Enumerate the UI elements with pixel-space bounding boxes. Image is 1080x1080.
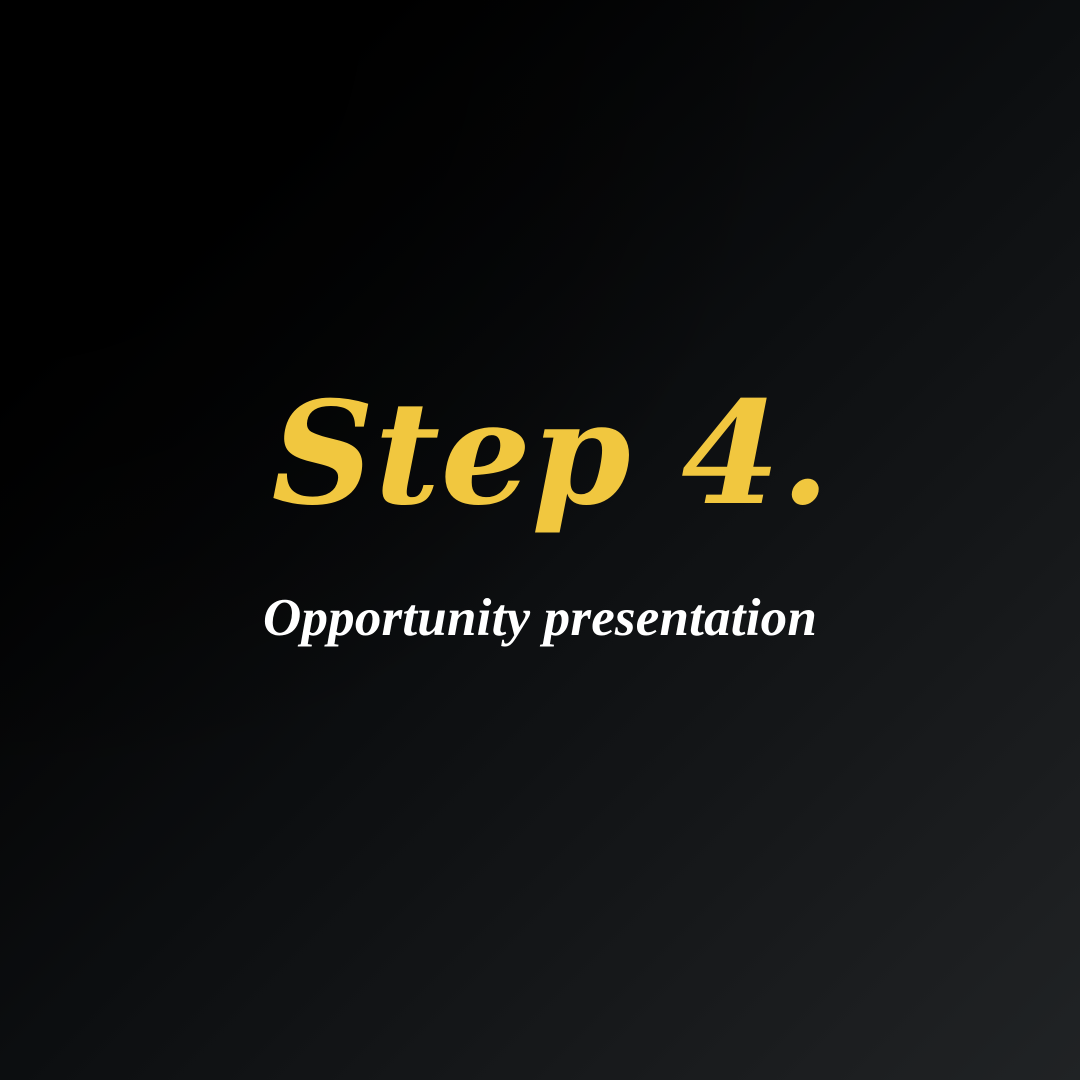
slide-content: Step 4. Opportunity presentation <box>0 0 1080 1080</box>
slide-title: Step 4. <box>0 383 1080 525</box>
slide-subtitle: Opportunity presentation <box>0 592 1080 645</box>
presentation-slide: Step 4. Opportunity presentation <box>0 0 1080 1080</box>
